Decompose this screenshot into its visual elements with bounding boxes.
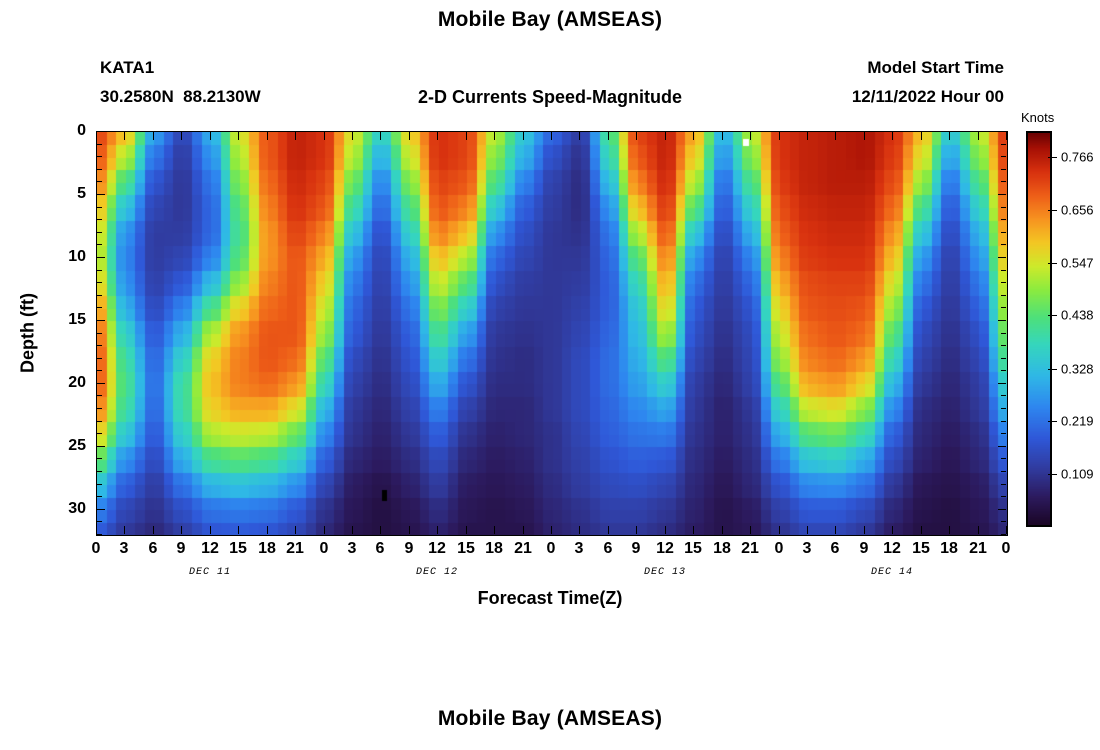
y-tick-left	[97, 446, 105, 447]
y-tick-right	[1001, 345, 1006, 346]
x-tick-label: 6	[604, 540, 613, 558]
x-tick-bottom	[380, 526, 381, 534]
y-tick-left	[97, 333, 102, 334]
colorbar-tick-label: 0.656	[1061, 203, 1094, 218]
x-tick-bottom	[267, 526, 268, 534]
y-tick-left	[97, 131, 105, 132]
x-tick-top	[579, 132, 580, 140]
y-tick-right	[1001, 169, 1006, 170]
x-tick-bottom	[409, 526, 410, 534]
y-tick-left	[97, 270, 102, 271]
x-tick-label: 9	[177, 540, 186, 558]
colorbar	[1026, 131, 1052, 527]
y-tick-left	[97, 257, 105, 258]
y-tick-left	[97, 219, 102, 220]
x-tick-top	[864, 132, 865, 140]
x-tick-top	[295, 132, 296, 140]
heatmap-plot-area	[96, 131, 1008, 536]
y-tick-right	[998, 131, 1006, 132]
y-tick-left	[97, 144, 102, 145]
y-tick-left	[97, 408, 102, 409]
x-tick-top	[978, 132, 979, 140]
y-tick-left	[97, 320, 105, 321]
x-tick-top	[1006, 132, 1007, 140]
y-tick-right	[998, 509, 1006, 510]
figure-bottom-title: Mobile Bay (AMSEAS)	[0, 707, 1100, 731]
x-tick-label: 18	[485, 540, 503, 558]
x-tick-top	[437, 132, 438, 140]
y-tick-right	[1001, 232, 1006, 233]
x-tick-label: 6	[376, 540, 385, 558]
x-tick-bottom	[807, 526, 808, 534]
y-tick-left	[97, 244, 102, 245]
x-tick-bottom	[608, 526, 609, 534]
x-tick-label: 0	[320, 540, 329, 558]
x-tick-label: 6	[149, 540, 158, 558]
x-tick-label: 12	[428, 540, 446, 558]
y-tick-label: 10	[46, 248, 86, 266]
x-tick-label: 21	[514, 540, 532, 558]
x-tick-label: 0	[1002, 540, 1011, 558]
x-tick-bottom	[210, 526, 211, 534]
colorbar-tick-label: 0.438	[1061, 308, 1094, 323]
x-tick-top	[665, 132, 666, 140]
y-tick-left	[97, 345, 102, 346]
y-tick-left	[97, 207, 102, 208]
x-tick-bottom	[96, 526, 97, 534]
y-tick-right	[1001, 244, 1006, 245]
x-tick-label: 9	[632, 540, 641, 558]
x-tick-label: 21	[741, 540, 759, 558]
x-tick-label: 15	[912, 540, 930, 558]
x-tick-bottom	[864, 526, 865, 534]
x-tick-top	[722, 132, 723, 140]
y-tick-left	[97, 370, 102, 371]
y-tick-right	[1001, 496, 1006, 497]
y-tick-left	[97, 509, 105, 510]
y-tick-right	[998, 383, 1006, 384]
x-tick-label: 6	[831, 540, 840, 558]
y-tick-right	[1001, 471, 1006, 472]
x-tick-label: 15	[684, 540, 702, 558]
x-tick-bottom	[1006, 526, 1007, 534]
x-tick-label: 15	[457, 540, 475, 558]
x-axis-day-label: DEC 12	[416, 567, 458, 578]
colorbar-tick	[1048, 157, 1057, 158]
colorbar-tick	[1048, 474, 1057, 475]
y-tick-left	[97, 496, 102, 497]
y-tick-right	[1001, 370, 1006, 371]
x-tick-label: 12	[656, 540, 674, 558]
y-axis-title: Depth (ft)	[18, 293, 39, 373]
x-tick-bottom	[124, 526, 125, 534]
x-tick-label: 18	[258, 540, 276, 558]
x-tick-label: 3	[575, 540, 584, 558]
x-tick-bottom	[665, 526, 666, 534]
y-tick-left	[97, 458, 102, 459]
x-tick-label: 18	[940, 540, 958, 558]
x-tick-label: 12	[883, 540, 901, 558]
colorbar-units-label: Knots	[1021, 110, 1054, 125]
heatmap-canvas	[97, 132, 1007, 535]
x-tick-bottom	[153, 526, 154, 534]
x-tick-bottom	[494, 526, 495, 534]
y-tick-left	[97, 534, 102, 535]
colorbar-tick-label: 0.766	[1061, 150, 1094, 165]
x-axis-day-label: DEC 14	[871, 567, 913, 578]
x-tick-label: 3	[120, 540, 129, 558]
x-tick-top	[409, 132, 410, 140]
x-axis-day-label: DEC 11	[189, 567, 231, 578]
x-tick-bottom	[579, 526, 580, 534]
x-tick-bottom	[466, 526, 467, 534]
x-tick-top	[466, 132, 467, 140]
y-tick-right	[1001, 534, 1006, 535]
x-tick-bottom	[636, 526, 637, 534]
y-tick-right	[998, 446, 1006, 447]
y-tick-right	[1001, 395, 1006, 396]
x-tick-bottom	[551, 526, 552, 534]
figure-top-title: Mobile Bay (AMSEAS)	[0, 8, 1100, 32]
x-tick-top	[181, 132, 182, 140]
x-tick-label: 9	[405, 540, 414, 558]
x-tick-bottom	[892, 526, 893, 534]
y-tick-left	[97, 181, 102, 182]
y-tick-right	[1001, 433, 1006, 434]
y-tick-left	[97, 421, 102, 422]
x-tick-top	[636, 132, 637, 140]
x-tick-top	[124, 132, 125, 140]
x-tick-label: 0	[775, 540, 784, 558]
x-tick-top	[324, 132, 325, 140]
x-tick-top	[523, 132, 524, 140]
y-tick-right	[1001, 270, 1006, 271]
y-tick-right	[1001, 421, 1006, 422]
y-tick-left	[97, 521, 102, 522]
y-tick-right	[1001, 521, 1006, 522]
x-tick-label: 0	[92, 540, 101, 558]
y-tick-left	[97, 383, 105, 384]
y-tick-left	[97, 484, 102, 485]
colorbar-canvas	[1028, 133, 1050, 525]
x-tick-top	[807, 132, 808, 140]
y-tick-right	[1001, 156, 1006, 157]
x-tick-bottom	[921, 526, 922, 534]
x-tick-top	[779, 132, 780, 140]
colorbar-tick	[1048, 421, 1057, 422]
x-tick-bottom	[523, 526, 524, 534]
x-tick-label: 3	[803, 540, 812, 558]
x-tick-top	[494, 132, 495, 140]
x-tick-label: 12	[201, 540, 219, 558]
y-tick-right	[1001, 207, 1006, 208]
model-start-time-label: Model Start Time	[867, 58, 1004, 78]
x-tick-top	[835, 132, 836, 140]
colorbar-tick	[1048, 210, 1057, 211]
y-tick-right	[998, 257, 1006, 258]
x-tick-top	[352, 132, 353, 140]
x-tick-bottom	[181, 526, 182, 534]
x-tick-bottom	[949, 526, 950, 534]
y-tick-label: 25	[46, 437, 86, 455]
colorbar-tick-label: 0.219	[1061, 414, 1094, 429]
figure-root: Mobile Bay (AMSEAS) KATA1 30.2580N 88.21…	[0, 0, 1100, 750]
y-tick-left	[97, 307, 102, 308]
y-tick-right	[998, 194, 1006, 195]
y-tick-left	[97, 433, 102, 434]
y-tick-right	[1001, 144, 1006, 145]
station-id-label: KATA1	[100, 58, 154, 78]
x-tick-top	[750, 132, 751, 140]
x-tick-top	[267, 132, 268, 140]
colorbar-tick	[1048, 315, 1057, 316]
x-tick-bottom	[238, 526, 239, 534]
y-tick-left	[97, 358, 102, 359]
y-tick-right	[1001, 458, 1006, 459]
y-tick-left	[97, 395, 102, 396]
x-tick-bottom	[750, 526, 751, 534]
y-tick-right	[998, 320, 1006, 321]
x-tick-top	[96, 132, 97, 140]
x-tick-top	[551, 132, 552, 140]
x-tick-bottom	[352, 526, 353, 534]
y-tick-right	[1001, 408, 1006, 409]
x-tick-bottom	[324, 526, 325, 534]
x-tick-bottom	[835, 526, 836, 534]
x-tick-top	[921, 132, 922, 140]
y-tick-label: 0	[46, 122, 86, 140]
y-tick-label: 30	[46, 500, 86, 518]
y-tick-right	[1001, 282, 1006, 283]
x-tick-top	[238, 132, 239, 140]
x-tick-bottom	[722, 526, 723, 534]
colorbar-tick-label: 0.328	[1061, 362, 1094, 377]
x-tick-label: 18	[713, 540, 731, 558]
y-tick-right	[1001, 219, 1006, 220]
y-tick-right	[1001, 295, 1006, 296]
x-tick-top	[949, 132, 950, 140]
x-tick-top	[210, 132, 211, 140]
x-tick-bottom	[693, 526, 694, 534]
x-tick-bottom	[978, 526, 979, 534]
x-tick-bottom	[779, 526, 780, 534]
x-tick-label: 21	[969, 540, 987, 558]
x-tick-top	[693, 132, 694, 140]
model-start-time-value: 12/11/2022 Hour 00	[852, 87, 1004, 107]
x-axis-day-label: DEC 13	[644, 567, 686, 578]
y-tick-label: 5	[46, 185, 86, 203]
x-tick-label: 9	[860, 540, 869, 558]
y-tick-right	[1001, 307, 1006, 308]
colorbar-tick-label: 0.109	[1061, 467, 1094, 482]
x-tick-label: 0	[547, 540, 556, 558]
y-tick-right	[1001, 484, 1006, 485]
x-tick-bottom	[295, 526, 296, 534]
y-tick-label: 20	[46, 374, 86, 392]
colorbar-tick	[1048, 369, 1057, 370]
y-tick-left	[97, 169, 102, 170]
x-axis-title: Forecast Time(Z)	[0, 588, 1100, 609]
x-tick-label: 15	[229, 540, 247, 558]
y-tick-left	[97, 295, 102, 296]
colorbar-tick	[1048, 263, 1057, 264]
y-tick-right	[1001, 333, 1006, 334]
x-tick-top	[380, 132, 381, 140]
y-tick-left	[97, 232, 102, 233]
y-tick-right	[1001, 181, 1006, 182]
y-tick-left	[97, 471, 102, 472]
x-tick-label: 21	[286, 540, 304, 558]
x-tick-label: 3	[348, 540, 357, 558]
colorbar-tick-label: 0.547	[1061, 256, 1094, 271]
y-tick-right	[1001, 358, 1006, 359]
y-tick-label: 15	[46, 311, 86, 329]
y-tick-left	[97, 194, 105, 195]
y-tick-left	[97, 282, 102, 283]
x-tick-top	[608, 132, 609, 140]
x-tick-bottom	[437, 526, 438, 534]
x-tick-top	[892, 132, 893, 140]
x-tick-top	[153, 132, 154, 140]
y-tick-left	[97, 156, 102, 157]
